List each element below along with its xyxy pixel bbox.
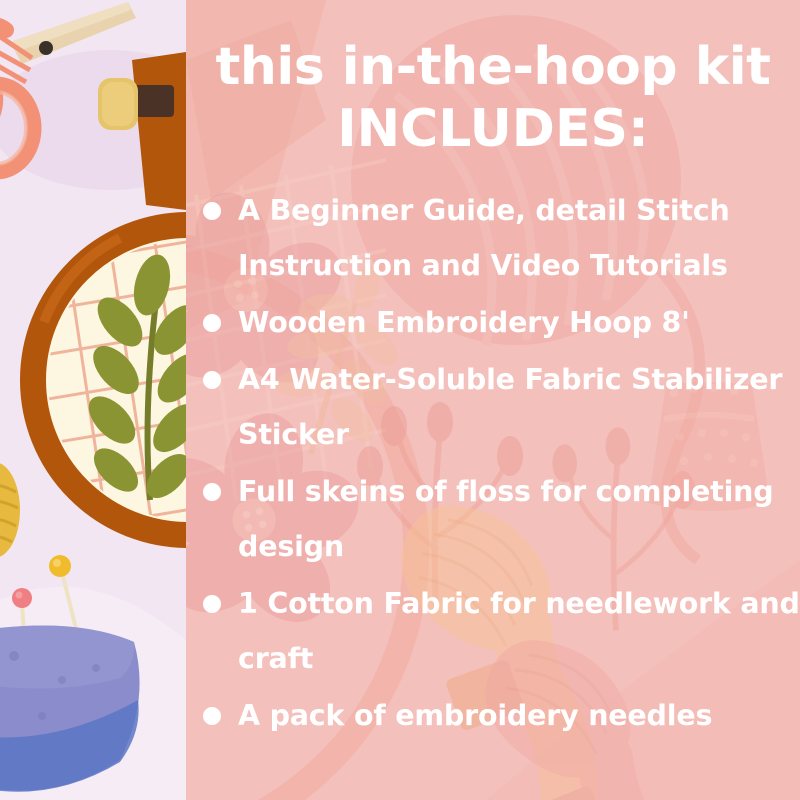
list-item-label: Full skeins of floss for completing desi… xyxy=(238,475,773,563)
list-item-label: Wooden Embroidery Hoop 8' xyxy=(238,306,690,339)
includes-list: A Beginner Guide, detail Stitch Instruct… xyxy=(200,183,800,745)
title-line-1: this in-the-hoop kit xyxy=(186,36,800,98)
sewing-illustration xyxy=(0,0,186,800)
bullet-dot-icon xyxy=(203,707,221,725)
list-item: A pack of embroidery needles xyxy=(200,688,800,743)
list-item: Wooden Embroidery Hoop 8' xyxy=(200,295,800,350)
bullet-dot-icon xyxy=(203,314,221,332)
list-item: A Beginner Guide, detail Stitch Instruct… xyxy=(200,183,800,293)
bullet-dot-icon xyxy=(203,202,221,220)
page-title: this in-the-hoop kit INCLUDES: xyxy=(186,36,800,160)
list-item-label: A pack of embroidery needles xyxy=(238,699,712,732)
list-item: Full skeins of floss for completing desi… xyxy=(200,464,800,574)
includes-panel: this in-the-hoop kit INCLUDES: A Beginne… xyxy=(186,0,800,800)
list-item-label: 1 Cotton Fabric for needlework and craft xyxy=(238,587,800,675)
illustration-panel xyxy=(0,0,186,800)
bullet-dot-icon xyxy=(203,371,221,389)
scissor-pivot xyxy=(39,41,53,55)
poster-canvas: this in-the-hoop kit INCLUDES: A Beginne… xyxy=(0,0,800,800)
list-item: A4 Water-Soluble Fabric Stabilizer Stick… xyxy=(200,352,800,462)
list-item-label: A4 Water-Soluble Fabric Stabilizer Stick… xyxy=(238,363,782,451)
bullet-dot-icon xyxy=(203,483,221,501)
list-item-label: A Beginner Guide, detail Stitch Instruct… xyxy=(238,194,730,282)
includes-content: this in-the-hoop kit INCLUDES: A Beginne… xyxy=(186,0,800,800)
list-item: 1 Cotton Fabric for needlework and craft xyxy=(200,576,800,686)
title-line-2: INCLUDES: xyxy=(186,98,800,160)
bullet-dot-icon xyxy=(203,595,221,613)
